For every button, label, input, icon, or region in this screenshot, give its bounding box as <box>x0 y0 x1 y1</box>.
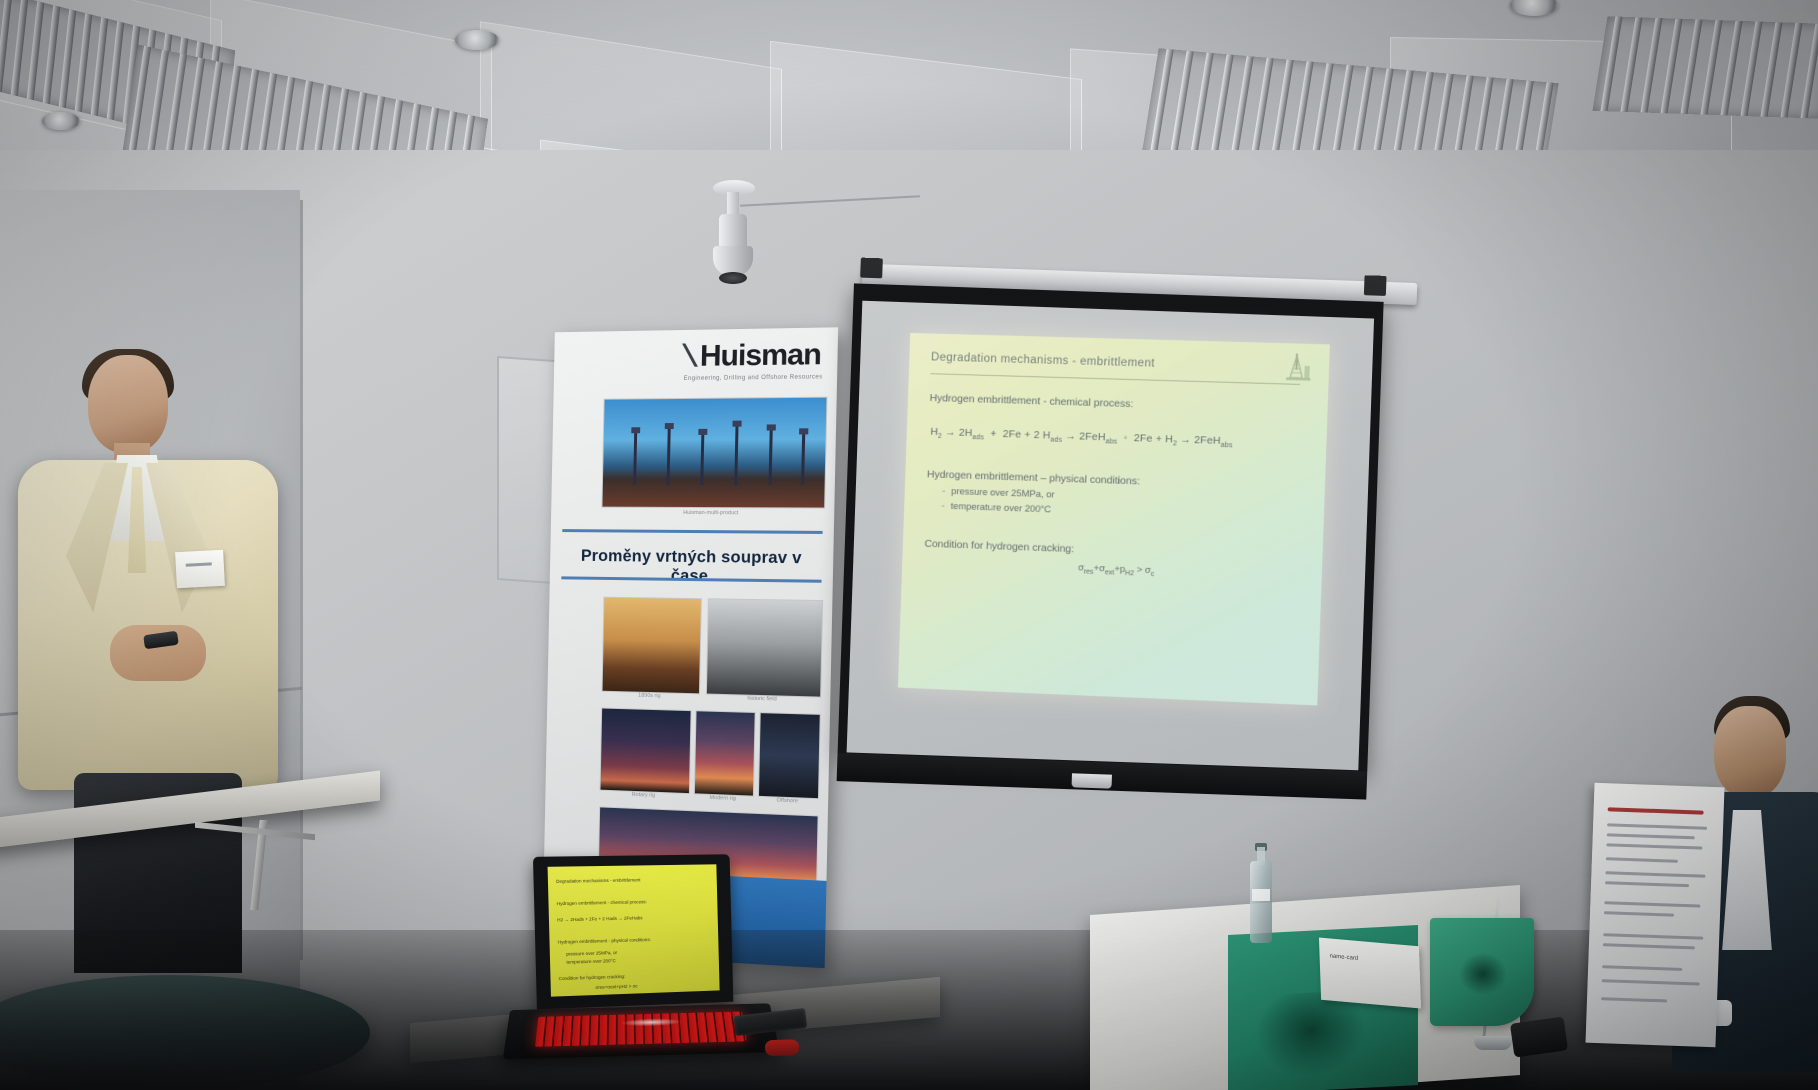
slide-divider <box>930 373 1300 385</box>
laptop-keyboard[interactable] <box>535 1012 747 1047</box>
slide-header: Degradation mechanisms - embrittlement <box>931 351 1311 374</box>
name-card-text: name-card <box>1329 952 1411 968</box>
laptop-screen[interactable]: Degradation mechanisms - embrittlement H… <box>548 864 720 996</box>
flag-stand <box>1474 1036 1512 1050</box>
banner-photo-caption: Modern rig <box>694 794 752 802</box>
banner-photo-caption: Offshore <box>758 797 817 805</box>
screen-bracket-left <box>860 258 883 279</box>
name-card: name-card <box>1319 937 1421 1008</box>
banner-photo-oilfield <box>706 598 823 697</box>
banner-photo-rig-night-1 <box>600 708 692 795</box>
flag-emblem-icon <box>1458 952 1508 996</box>
water-bottle[interactable] <box>1250 843 1272 943</box>
banner-photo-caption: 1890s rig <box>601 692 697 701</box>
banner-photo-offshore <box>601 397 827 509</box>
screen-pull-tab[interactable] <box>1072 773 1112 788</box>
screen-bracket-right <box>1364 275 1387 296</box>
bottle-body <box>1250 861 1272 943</box>
rig-logo-icon <box>1282 351 1316 382</box>
banner-logo-text: Huisman <box>700 338 822 373</box>
laptop-note-line: Hydrogen embrittlement - chemical proces… <box>557 898 712 908</box>
banner-tagline: Engineering, Drilling and Offshore Resou… <box>684 374 823 382</box>
presenter-head <box>88 355 168 453</box>
floor <box>0 930 1818 1090</box>
laptop-note-line: Degradation mechanisms - embrittlement <box>556 876 711 885</box>
ceiling-light-fixture <box>1592 16 1818 119</box>
laptop-note-line: H2 → 2Hads + 2Fe + 2 Hads → 2FeHabs <box>557 914 712 924</box>
projection-screen: Degradation mechanisms - embrittlement H… <box>836 275 1414 814</box>
attendee-head <box>1714 706 1786 798</box>
laptop-lid: Degradation mechanisms - embrittlement H… <box>533 854 733 1009</box>
screen-frame: Degradation mechanisms - embrittlement H… <box>838 283 1384 771</box>
laptop-note-line: Hydrogen embrittlement - physical condit… <box>558 935 713 946</box>
banner-photo-caption: Huisman-multi-product <box>601 510 823 517</box>
projected-slide: Degradation mechanisms - embrittlement H… <box>898 333 1330 705</box>
bottle-label <box>1252 889 1270 901</box>
banner-photo-derrick <box>602 597 702 695</box>
ceiling-spotlight-icon <box>705 180 761 285</box>
recessed-downlight-icon <box>42 112 80 130</box>
slide-body: Hydrogen embrittlement - chemical proces… <box>924 391 1318 585</box>
presenter-name-badge <box>175 550 225 588</box>
recessed-downlight-icon <box>455 30 499 50</box>
photo-scene: ⟍Huisman Engineering, Drilling and Offsh… <box>0 0 1818 1090</box>
printed-handout[interactable] <box>1586 783 1725 1047</box>
banner-photo-rig-night-2 <box>694 710 756 796</box>
banner-photo-rig-night-3 <box>758 712 821 799</box>
keyboard-backlight-glow <box>621 1018 683 1027</box>
slide-title: Degradation mechanisms - embrittlement <box>931 351 1311 374</box>
recessed-downlight-icon <box>1510 0 1558 16</box>
presenter-laptop[interactable]: Degradation mechanisms - embrittlement H… <box>502 851 808 1090</box>
red-mouse[interactable] <box>765 1039 799 1056</box>
laptop-note-line: σres+σext+pH2 > σc <box>595 981 713 992</box>
flag-cloth <box>1430 918 1534 1026</box>
banner-logo: ⟍Huisman <box>679 338 821 374</box>
